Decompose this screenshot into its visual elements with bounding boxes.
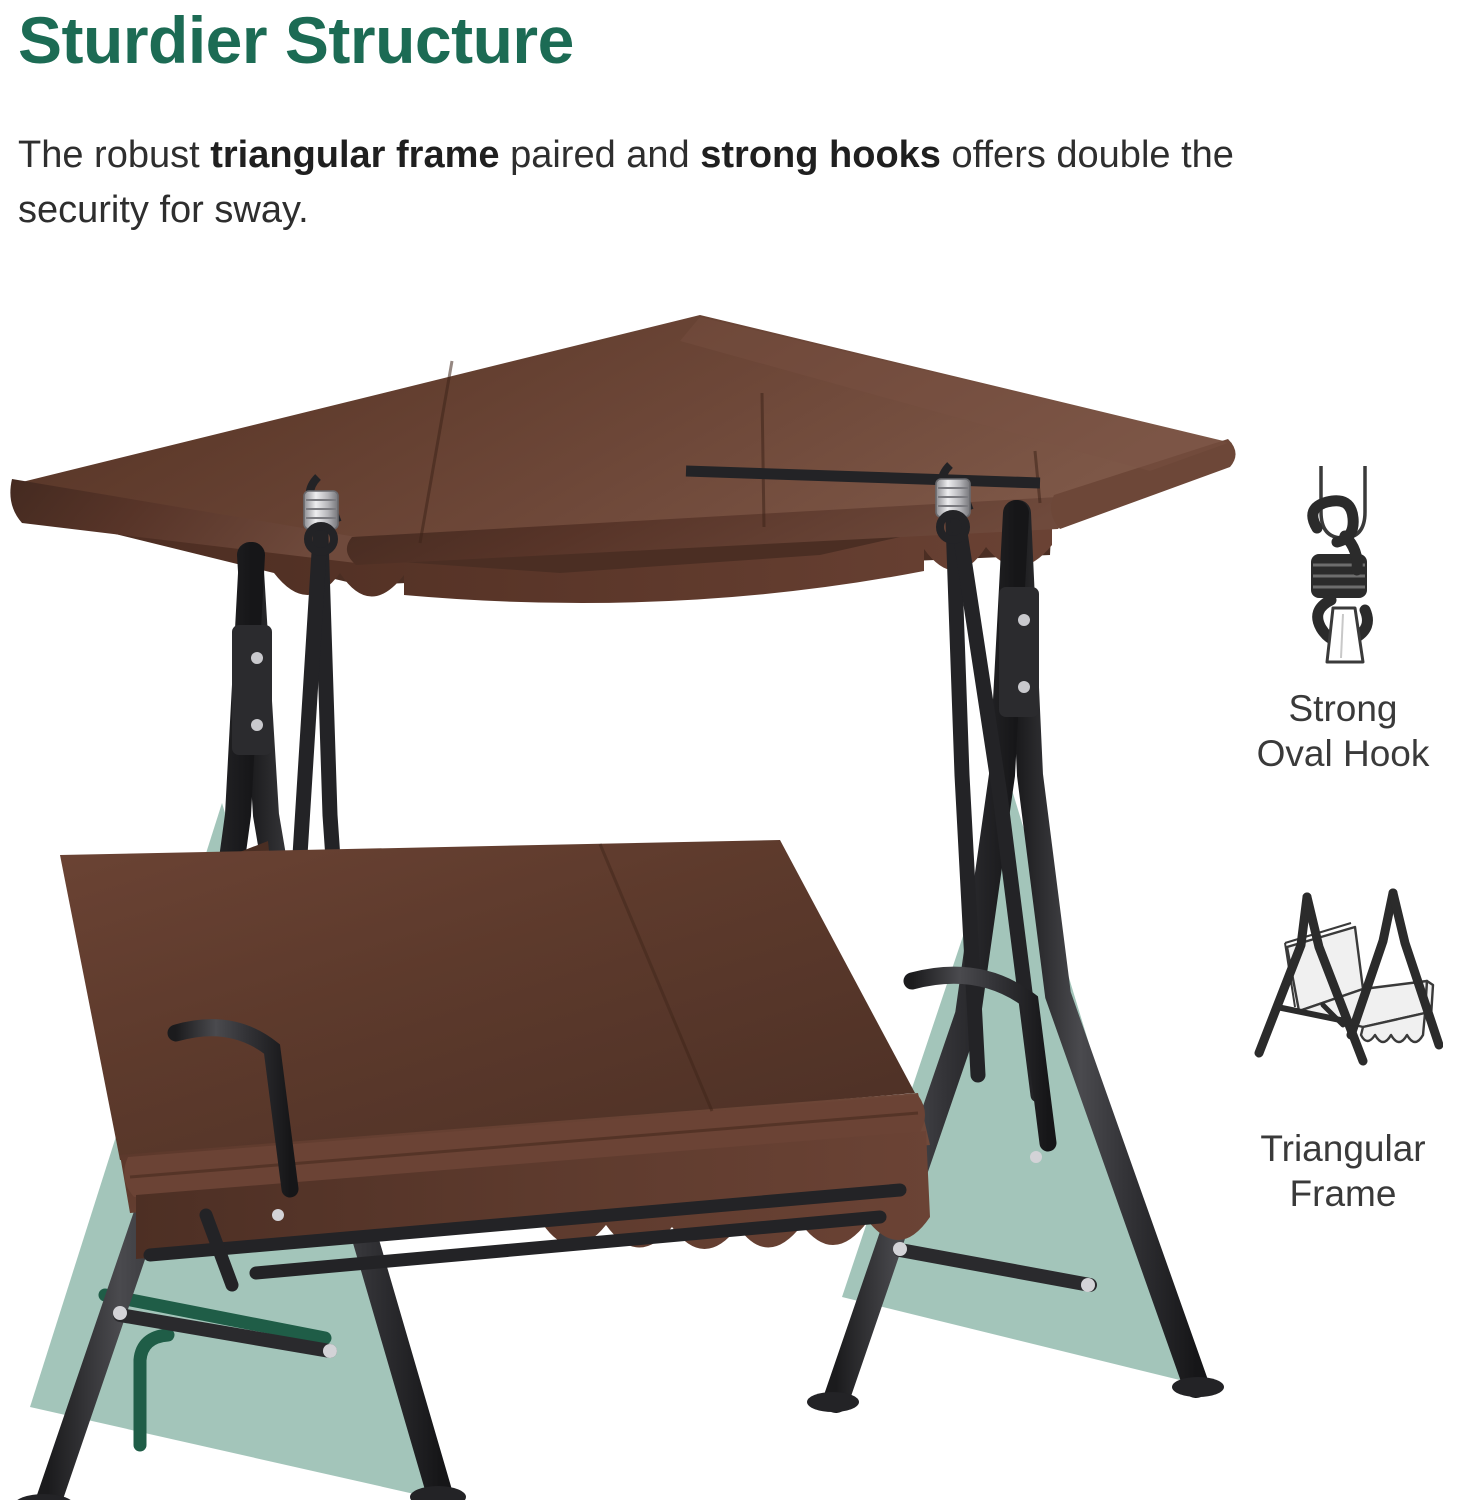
page-title: Sturdier Structure xyxy=(18,5,574,76)
subheading-run-2: paired and xyxy=(500,134,701,176)
product-illustration xyxy=(0,255,1240,1500)
subheading-run-0: The robust xyxy=(18,134,210,176)
callout-label-triangular-frame: Triangular Frame xyxy=(1228,1126,1458,1216)
product-feature-image: Sturdier Structure The robust triangular… xyxy=(0,0,1461,1500)
callout-triangular-frame: Triangular Frame xyxy=(1228,880,1458,1216)
subheading-text: The robust triangular frame paired and s… xyxy=(18,128,1288,238)
callout-strong-oval-hook: Strong Oval Hook xyxy=(1228,455,1458,776)
subheading-run-1: triangular frame xyxy=(210,134,499,176)
canopy xyxy=(10,315,1235,603)
oval-hook-spring-icon xyxy=(1228,455,1458,670)
swing-a-frame-icon xyxy=(1228,880,1458,1110)
subheading-run-3: strong hooks xyxy=(700,134,941,176)
leg-bracket xyxy=(232,587,1039,755)
callout-label-strong-oval-hook: Strong Oval Hook xyxy=(1228,686,1458,776)
